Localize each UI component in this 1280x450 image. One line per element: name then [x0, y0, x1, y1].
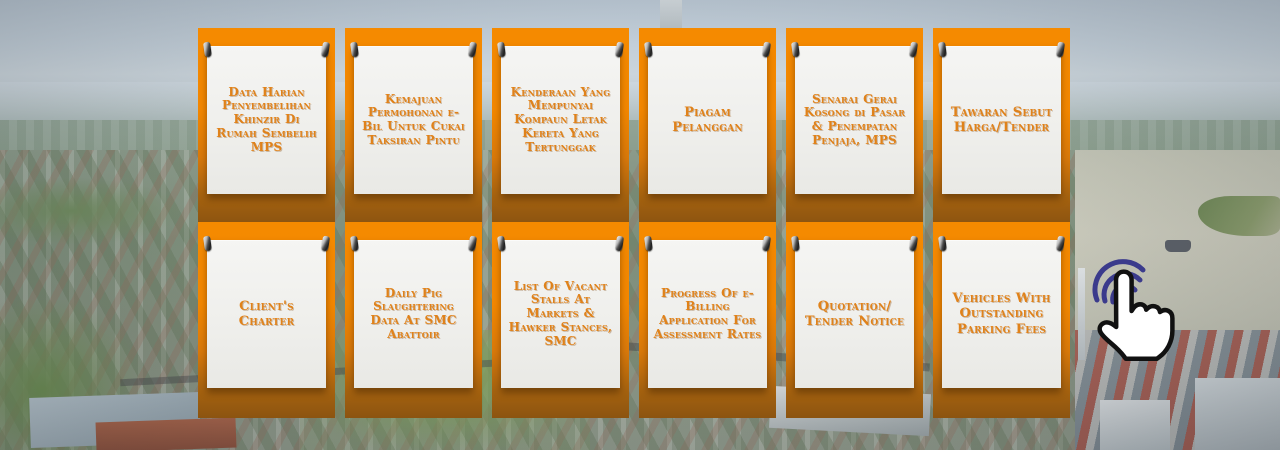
tile-row-bottom: Client's Charter Daily Pig Slaughtering …	[198, 222, 1080, 418]
tile-title: Piagam Pelanggan	[653, 105, 762, 135]
tile-kemajuan-permohonan-ebil[interactable]: Kemajuan Permohonan e-Bil Untuk Cukai Ta…	[345, 28, 482, 224]
pin-icon-right	[615, 42, 624, 58]
pin-icon-left	[203, 42, 212, 58]
pin-icon-left	[791, 42, 800, 58]
tile-title: Client's Charter	[212, 299, 321, 329]
tile-paper: Vehicles With Outstanding Parking Fees	[942, 240, 1061, 388]
pin-icon-right	[1056, 236, 1065, 252]
tile-title: Tawaran Sebut Harga/Tender	[947, 105, 1056, 135]
pin-icon-left	[644, 236, 653, 252]
tile-progress-of-ebilling[interactable]: Progress Of e-Billing Application For As…	[639, 222, 776, 418]
tile-senarai-gerai-kosong[interactable]: Senarai Gerai Kosong di Pasar & Penempat…	[786, 28, 923, 224]
pin-icon-left	[791, 236, 800, 252]
pin-icon-right	[468, 42, 477, 58]
tile-title: Daily Pig Slaughtering Data At SMC Abatt…	[359, 287, 468, 342]
tile-title: Vehicles With Outstanding Parking Fees	[947, 291, 1056, 336]
tile-piagam-pelanggan[interactable]: Piagam Pelanggan	[639, 28, 776, 224]
tile-title: Progress Of e-Billing Application For As…	[653, 287, 762, 342]
tile-tawaran-sebut-harga-tender[interactable]: Tawaran Sebut Harga/Tender	[933, 28, 1070, 224]
pin-icon-right	[762, 42, 771, 58]
tile-quotation-tender-notice[interactable]: Quotation/ Tender Notice	[786, 222, 923, 418]
pin-icon-left	[350, 236, 359, 252]
tile-paper: Client's Charter	[207, 240, 326, 388]
tile-paper: Tawaran Sebut Harga/Tender	[942, 46, 1061, 194]
tile-clients-charter[interactable]: Client's Charter	[198, 222, 335, 418]
page-stage: Data Harian Penyembelihan Khinzir Di Rum…	[0, 0, 1280, 450]
tile-paper: Kemajuan Permohonan e-Bil Untuk Cukai Ta…	[354, 46, 473, 194]
pin-icon-left	[497, 236, 506, 252]
tile-title: List Of Vacant Stalls At Markets & Hawke…	[506, 280, 615, 348]
tile-paper: Data Harian Penyembelihan Khinzir Di Rum…	[207, 46, 326, 194]
pin-icon-right	[615, 236, 624, 252]
pin-icon-right	[1056, 42, 1065, 58]
service-tile-grid: Data Harian Penyembelihan Khinzir Di Rum…	[198, 28, 1080, 418]
pin-icon-left	[644, 42, 653, 58]
tile-paper: Progress Of e-Billing Application For As…	[648, 240, 767, 388]
tile-title: Kenderaan Yang Mempunyai Kompaun Letak K…	[506, 86, 615, 154]
tile-paper: Quotation/ Tender Notice	[795, 240, 914, 388]
tile-paper: Kenderaan Yang Mempunyai Kompaun Letak K…	[501, 46, 620, 194]
pin-icon-left	[203, 236, 212, 252]
tile-kenderaan-kompaun-letak-kereta[interactable]: Kenderaan Yang Mempunyai Kompaun Letak K…	[492, 28, 629, 224]
pin-icon-right	[762, 236, 771, 252]
tile-paper: Senarai Gerai Kosong di Pasar & Penempat…	[795, 46, 914, 194]
pin-icon-right	[468, 236, 477, 252]
tile-data-harian-penyembelihan[interactable]: Data Harian Penyembelihan Khinzir Di Rum…	[198, 28, 335, 224]
tile-row-top: Data Harian Penyembelihan Khinzir Di Rum…	[198, 28, 1080, 224]
tile-title: Data Harian Penyembelihan Khinzir Di Rum…	[212, 86, 321, 154]
pin-icon-right	[321, 236, 330, 252]
tile-daily-pig-slaughtering-data[interactable]: Daily Pig Slaughtering Data At SMC Abatt…	[345, 222, 482, 418]
pin-icon-right	[909, 42, 918, 58]
tile-list-of-vacant-stalls[interactable]: List Of Vacant Stalls At Markets & Hawke…	[492, 222, 629, 418]
tile-paper: List Of Vacant Stalls At Markets & Hawke…	[501, 240, 620, 388]
tile-title: Quotation/ Tender Notice	[800, 299, 909, 329]
pin-icon-right	[321, 42, 330, 58]
pin-icon-left	[938, 42, 947, 58]
tile-paper: Daily Pig Slaughtering Data At SMC Abatt…	[354, 240, 473, 388]
tile-vehicles-outstanding-parking-fees[interactable]: Vehicles With Outstanding Parking Fees	[933, 222, 1070, 418]
tile-paper: Piagam Pelanggan	[648, 46, 767, 194]
tile-title: Senarai Gerai Kosong di Pasar & Penempat…	[800, 93, 909, 148]
pin-icon-left	[350, 42, 359, 58]
pin-icon-left	[497, 42, 506, 58]
tile-title: Kemajuan Permohonan e-Bil Untuk Cukai Ta…	[359, 93, 468, 148]
pin-icon-right	[909, 236, 918, 252]
pin-icon-left	[938, 236, 947, 252]
